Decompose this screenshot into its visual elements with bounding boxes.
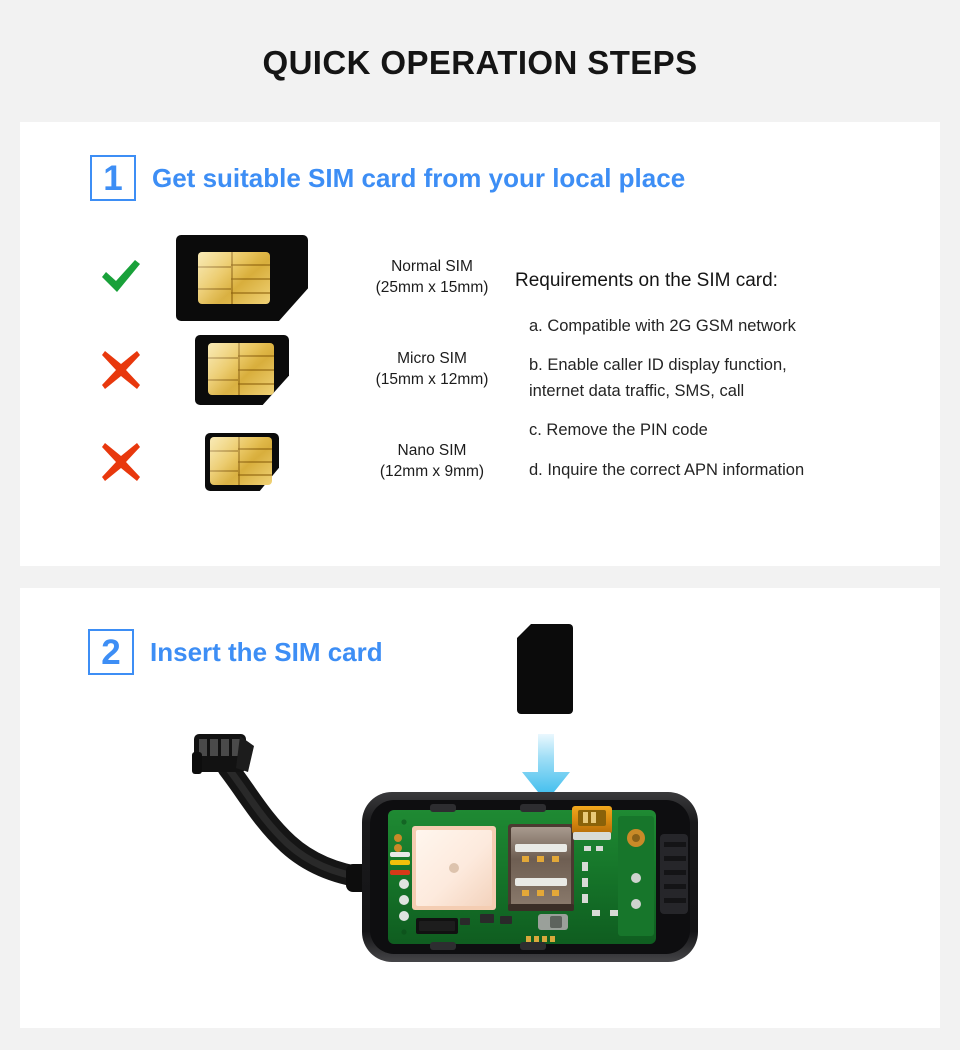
sim-type-list: Normal SIM (25mm x 15mm)	[90, 232, 532, 508]
requirements-title: Requirements on the SIM card:	[515, 270, 915, 292]
micro-sim-graphic	[152, 335, 332, 405]
inserting-sim-card-graphic	[517, 624, 573, 714]
sim-caption-nano: Nano SIM (12mm x 9mm)	[332, 441, 532, 483]
sim-requirements: Requirements on the SIM card: a. Compati…	[515, 270, 915, 499]
sim-name: Nano SIM	[332, 441, 532, 462]
sim-caption-micro: Micro SIM (15mm x 12mm)	[332, 349, 532, 391]
sim-size: (15mm x 12mm)	[332, 370, 532, 391]
sim-chip	[210, 437, 272, 485]
cross-icon	[90, 349, 152, 391]
sim-size: (25mm x 15mm)	[332, 278, 532, 299]
sim-row-micro: Micro SIM (15mm x 12mm)	[90, 324, 532, 416]
nano-sim-graphic	[152, 433, 332, 491]
step-1-title: Get suitable SIM card from your local pl…	[152, 163, 685, 194]
sim-name: Micro SIM	[332, 349, 532, 370]
requirement-item-a: a. Compatible with 2G GSM network	[515, 316, 915, 337]
requirement-item-b-cont: internet data traffic, SMS, call	[515, 381, 915, 402]
page-root: QUICK OPERATION STEPS 1 Get suitable SIM…	[0, 0, 960, 1050]
cross-icon	[90, 441, 152, 483]
sim-chip	[198, 252, 270, 304]
step-1-number-badge: 1	[90, 155, 136, 201]
requirement-item-d: d. Inquire the correct APN information	[515, 460, 915, 481]
sim-row-normal: Normal SIM (25mm x 15mm)	[90, 232, 532, 324]
step-2-card: 2 Insert the SIM card	[20, 588, 940, 1028]
sim-chip	[208, 343, 274, 395]
connector-head	[192, 734, 254, 774]
step-1-heading: 1 Get suitable SIM card from your local …	[90, 155, 685, 201]
step-2-illustration	[20, 588, 940, 1028]
step-1-card: 1 Get suitable SIM card from your local …	[20, 122, 940, 566]
normal-sim-graphic	[152, 235, 332, 321]
requirement-item-b: b. Enable caller ID display function,	[515, 355, 915, 376]
check-icon	[90, 258, 152, 298]
page-title: QUICK OPERATION STEPS	[0, 44, 960, 82]
requirement-item-c: c. Remove the PIN code	[515, 420, 915, 441]
sim-size: (12mm x 9mm)	[332, 462, 532, 483]
sim-row-nano: Nano SIM (12mm x 9mm)	[90, 416, 532, 508]
sim-caption-normal: Normal SIM (25mm x 15mm)	[332, 257, 532, 299]
gps-tracker-device-graphic	[360, 786, 700, 966]
sim-name: Normal SIM	[332, 257, 532, 278]
